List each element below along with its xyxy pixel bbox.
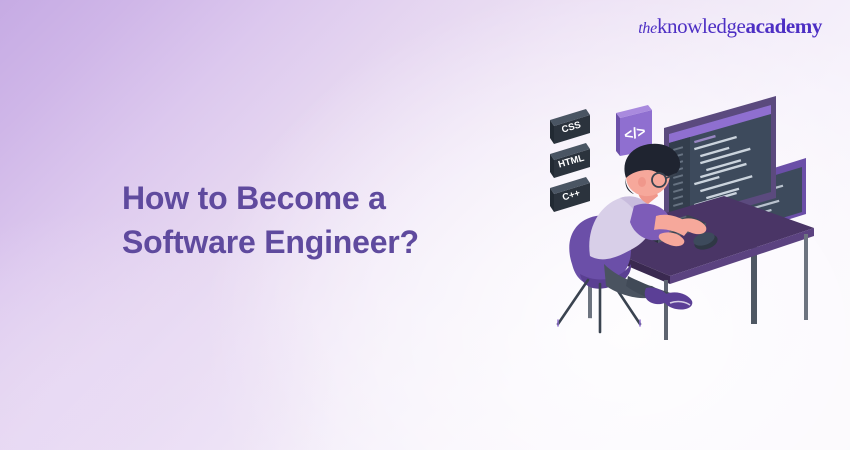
developer-at-desk-illustration: CSS HTML C++ </> — [528, 88, 838, 348]
brand-logo[interactable]: theknowledgeacademy — [638, 16, 822, 37]
logo-word-knowledge: knowledge — [657, 14, 746, 38]
language-tag-html: HTML — [550, 143, 590, 178]
banner-root: theknowledgeacademy How to Become a Soft… — [0, 0, 850, 450]
language-tag-css: CSS — [550, 109, 590, 144]
logo-word-the: the — [638, 20, 657, 37]
page-title: How to Become a Software Engineer? — [122, 176, 419, 264]
page-title-line-1: How to Become a — [122, 176, 419, 220]
page-title-line-2: Software Engineer? — [122, 220, 419, 264]
logo-word-academy: academy — [745, 14, 822, 38]
language-tag-cpp: C++ — [550, 177, 590, 212]
